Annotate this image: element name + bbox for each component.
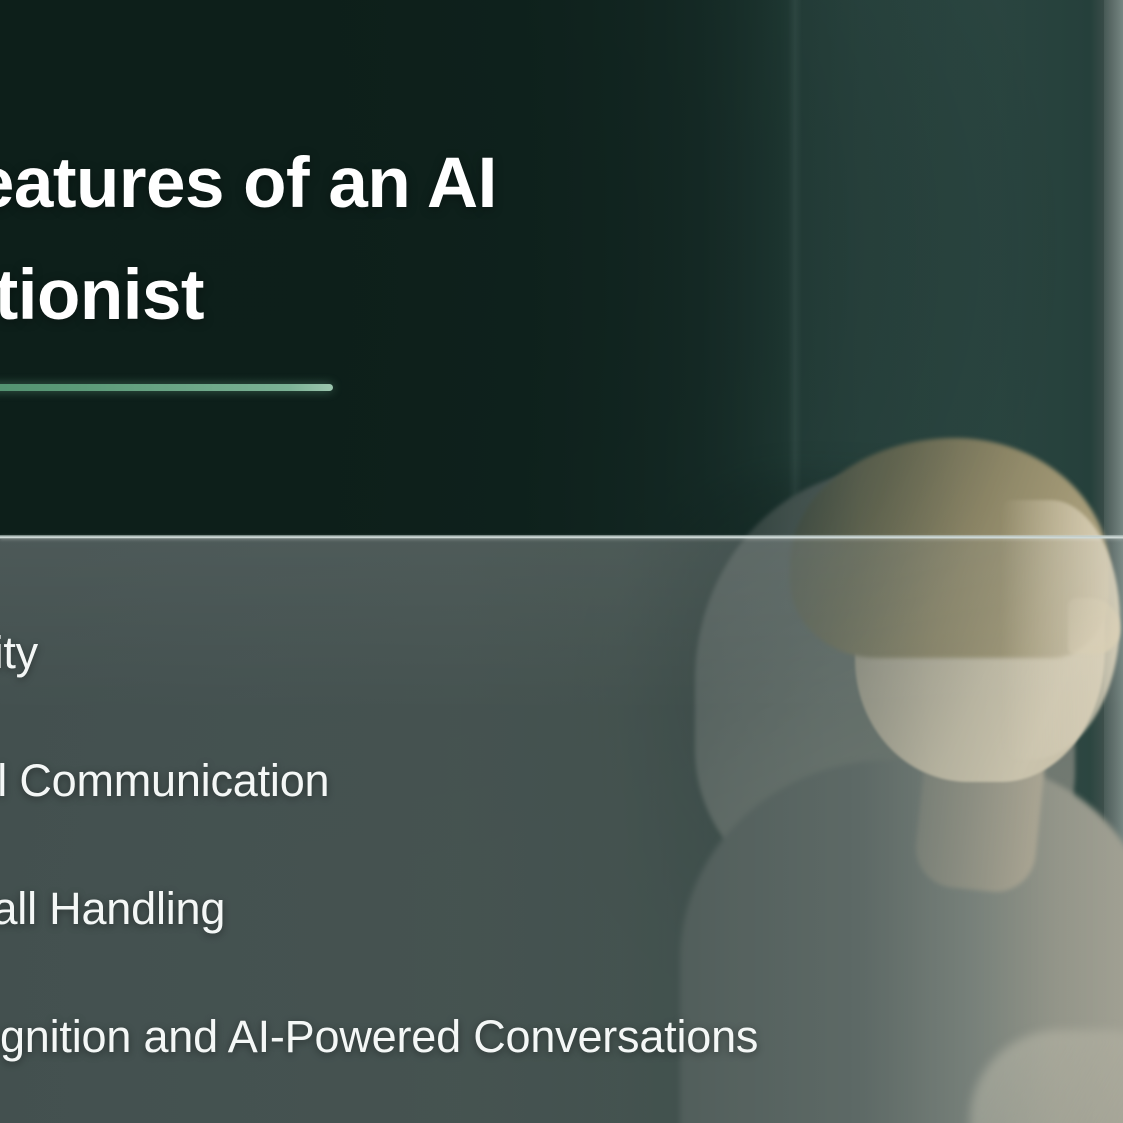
content-layer: Key Features of an AI Receptionist 24/7 …	[0, 0, 1123, 1123]
page-root: Key Features of an AI Receptionist 24/7 …	[0, 0, 1123, 1123]
feature-list-item: Automated Call Handling	[0, 883, 1123, 935]
feature-list-item: Multi-Channel Communication	[0, 755, 1123, 807]
feature-list-item: 24/7 Availability	[0, 627, 1123, 679]
feature-list-item: Speech Recognition and AI-Powered Conver…	[0, 1011, 1123, 1063]
page-title: Key Features of an AI Receptionist	[0, 128, 684, 352]
heading-accent-rule	[0, 384, 333, 391]
